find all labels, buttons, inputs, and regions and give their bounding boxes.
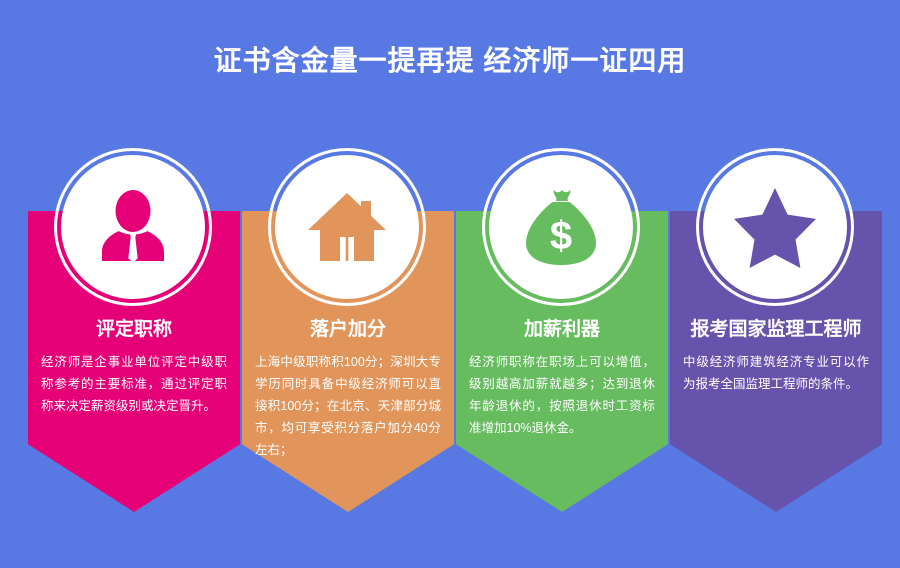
card-body: 中级经济师建筑经济专业可以作为报考全国监理工程师的条件。 [683, 351, 869, 395]
money-bag-icon: $ [489, 155, 633, 299]
house-icon [275, 155, 419, 299]
card-title: 评定职称 [32, 318, 236, 342]
star-icon [703, 155, 847, 299]
card-body: 经济师是企事业单位评定中级职称参考的主要标准，通过评定职称来决定薪资级别或决定晋… [41, 351, 227, 417]
benefit-card[interactable]: $ 加薪利器 经济师职称在职场上可以增值，级别越高加薪就越多；达到退休年龄退休的… [456, 148, 668, 528]
user-suit-icon [61, 155, 205, 299]
benefit-card[interactable]: 报考国家监理工程师 中级经济师建筑经济专业可以作为报考全国监理工程师的条件。 [670, 148, 882, 528]
page-title: 证书含金量一提再提 经济师一证四用 [0, 42, 900, 80]
benefit-card-list: 评定职称 经济师是企事业单位评定中级职称参考的主要标准，通过评定职称来决定薪资级… [28, 148, 872, 528]
card-title: 报考国家监理工程师 [674, 318, 878, 342]
card-body: 上海中级职称积100分；深圳大专学历同时具备中级经济师可以直接积100分；在北京… [255, 351, 441, 461]
benefit-card[interactable]: 落户加分 上海中级职称积100分；深圳大专学历同时具备中级经济师可以直接积100… [242, 148, 454, 528]
benefit-card[interactable]: 评定职称 经济师是企事业单位评定中级职称参考的主要标准，通过评定职称来决定薪资级… [28, 148, 240, 528]
promo-banner: 证书含金量一提再提 经济师一证四用 评定职称 经济师是企事业单位评定中级职称参考… [0, 0, 900, 568]
card-body: 经济师职称在职场上可以增值，级别越高加薪就越多；达到退休年龄退休的，按照退休时工… [469, 351, 655, 439]
card-title: 加薪利器 [460, 318, 664, 342]
svg-text:$: $ [550, 214, 572, 258]
card-title: 落户加分 [246, 318, 450, 342]
